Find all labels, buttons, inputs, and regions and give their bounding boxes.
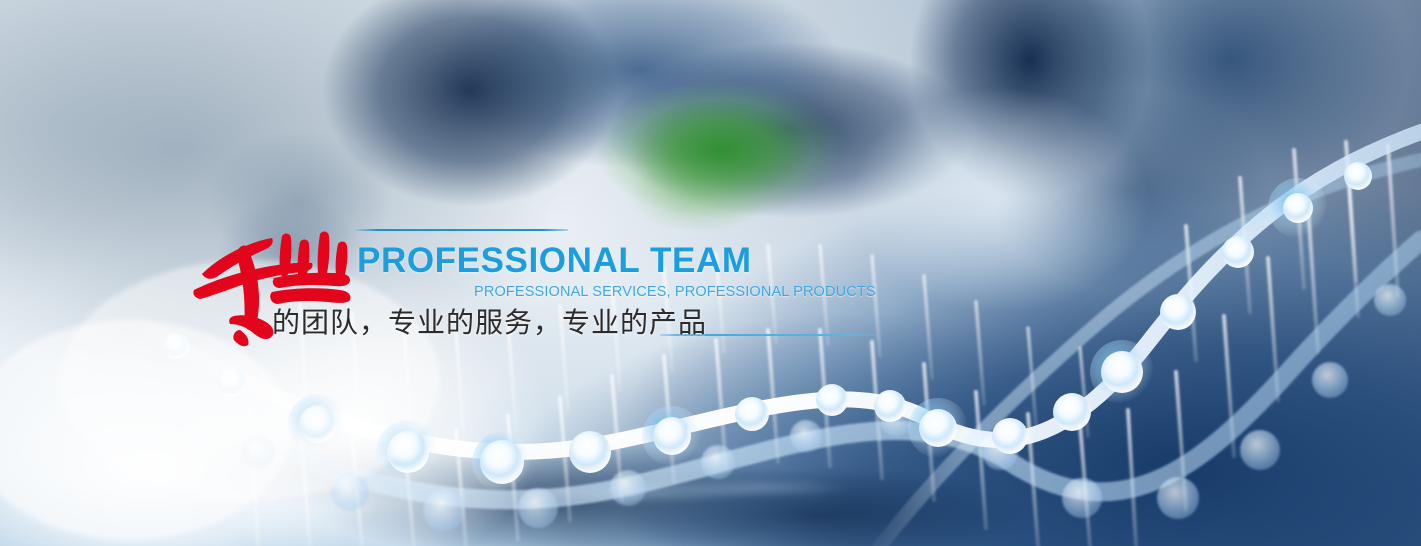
banner-content: PROFESSIONAL TEAM PROFESSIONAL SERVICES,… <box>0 0 1421 546</box>
chinese-tagline: 的团队，专业的服务，专业的产品 <box>272 306 707 340</box>
top-divider-line <box>356 229 568 231</box>
page-title: PROFESSIONAL TEAM <box>357 243 752 278</box>
page-subtitle: PROFESSIONAL SERVICES, PROFESSIONAL PROD… <box>474 285 876 300</box>
professional-team-banner: PROFESSIONAL TEAM PROFESSIONAL SERVICES,… <box>0 0 1421 546</box>
